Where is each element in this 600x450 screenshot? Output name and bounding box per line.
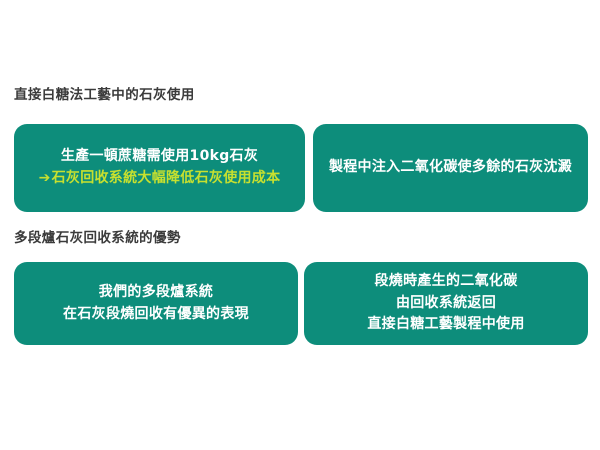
card-multihearth-performance-line-2: 在石灰段燒回收有優異的表現 [63, 304, 249, 326]
card-lime-cost-line-2: ➔石灰回收系統大幅降低石灰使用成本 [39, 168, 281, 190]
card-multihearth-performance-line-1: 我們的多段爐系統 [99, 282, 213, 304]
section-heading-lime-use: 直接白糖法工藝中的石灰使用 [14, 89, 195, 103]
card-multihearth-performance: 我們的多段爐系統 在石灰段燒回收有優異的表現 [14, 262, 298, 345]
card-co2-recycle-line-3: 直接白糖工藝製程中使用 [367, 314, 524, 336]
slide-canvas: 直接白糖法工藝中的石灰使用 生產一頓蔗糖需使用10kg石灰 ➔石灰回收系統大幅降… [0, 0, 600, 450]
card-co2-recycle-line-1: 段燒時產生的二氧化碳 [375, 271, 518, 293]
card-co2-precipitate-line-1: 製程中注入二氧化碳使多餘的石灰沈澱 [329, 157, 572, 179]
card-lime-cost: 生產一頓蔗糖需使用10kg石灰 ➔石灰回收系統大幅降低石灰使用成本 [14, 124, 305, 212]
card-co2-recycle-line-2: 由回收系統返回 [396, 293, 496, 315]
card-lime-cost-line-2-text: 石灰回收系統大幅降低石灰使用成本 [52, 170, 281, 186]
card-lime-cost-line-1: 生產一頓蔗糖需使用10kg石灰 [61, 146, 258, 168]
arrow-right-icon: ➔ [39, 171, 51, 185]
section-heading-advantages: 多段爐石灰回收系統的優勢 [14, 232, 181, 246]
card-co2-precipitate: 製程中注入二氧化碳使多餘的石灰沈澱 [313, 124, 588, 212]
card-co2-recycle: 段燒時產生的二氧化碳 由回收系統返回 直接白糖工藝製程中使用 [304, 262, 588, 345]
